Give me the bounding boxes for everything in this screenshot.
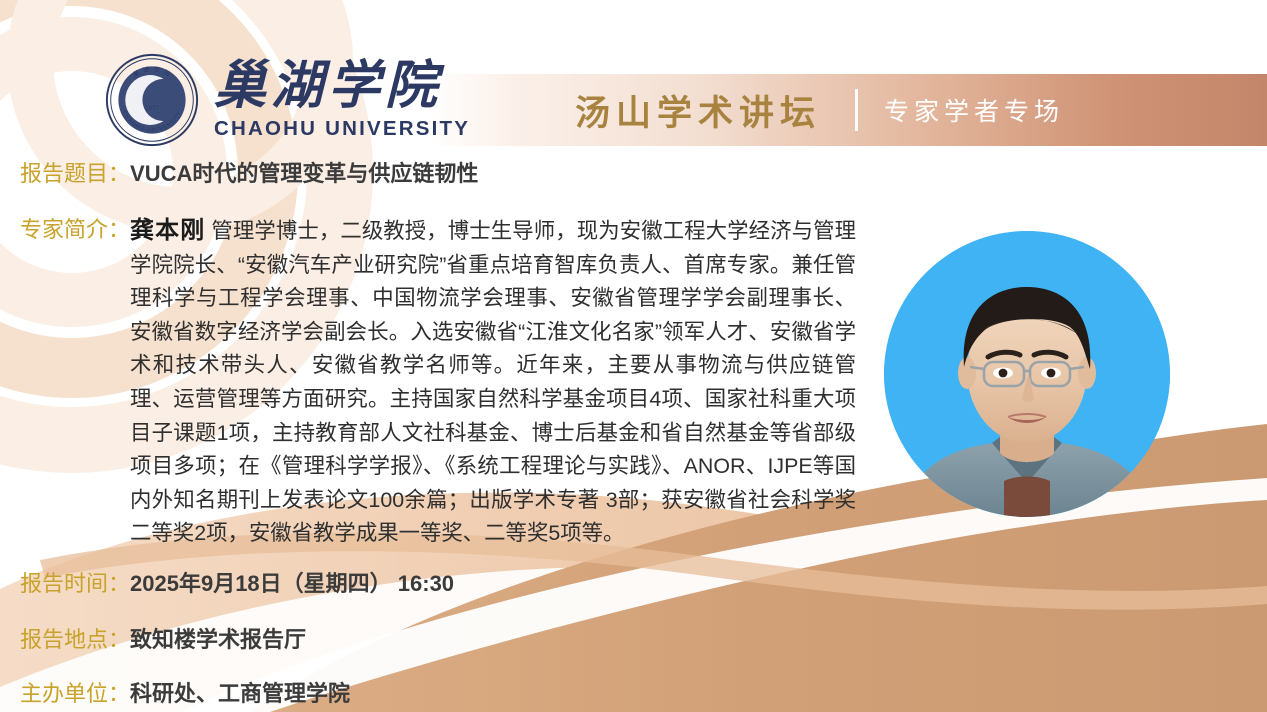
speaker-bio-label: 专家简介： xyxy=(20,214,130,246)
poster-header: 汤山学术讲坛 专家学者专场 1977 巢 湖 学 院 CHAOHU UNIVER… xyxy=(0,0,1267,148)
speaker-bio-row: 专家简介： 龚本刚 管理学博士，二级教授，博士生导师，现为安徽工程大学经济与管理… xyxy=(20,214,890,551)
lecture-place-value: 致知楼学术报告厅 xyxy=(130,624,306,656)
lecture-title-value: VUCA时代的管理变革与供应链韧性 xyxy=(130,158,478,190)
speaker-bio-paragraph: 管理学博士，二级教授，博士生导师，现为安徽工程大学经济与管理学院院长、“安徽汽车… xyxy=(130,219,856,545)
lecture-organizer-row: 主办单位： 科研处、工商管理学院 xyxy=(20,678,350,710)
lecture-place-row: 报告地点： 致知楼学术报告厅 xyxy=(20,624,306,656)
speaker-bio-text: 龚本刚 管理学博士，二级教授，博士生导师，现为安徽工程大学经济与管理学院院长、“… xyxy=(130,214,856,551)
lecture-time-value: 2025年9月18日（星期四） 16:30 xyxy=(130,568,454,600)
chaohu-university-crest-icon: 1977 巢 湖 学 院 CHAOHU UNIVERSITY xyxy=(104,52,200,148)
banner-sub-title: 专家学者专场 xyxy=(884,92,1064,128)
speaker-portrait xyxy=(884,231,1170,517)
lecture-time-label: 报告时间： xyxy=(20,568,130,600)
lecture-title-row: 报告题目： VUCA时代的管理变革与供应链韧性 xyxy=(20,158,478,190)
banner-divider xyxy=(855,89,858,131)
lecture-series-banner: 汤山学术讲坛 专家学者专场 xyxy=(430,74,1267,146)
svg-text:1977: 1977 xyxy=(145,106,158,112)
seminar-poster: 汤山学术讲坛 专家学者专场 1977 巢 湖 学 院 CHAOHU UNIVER… xyxy=(0,0,1267,712)
university-name-en: CHAOHU UNIVERSITY xyxy=(214,117,470,141)
lecture-organizer-label: 主办单位： xyxy=(20,678,130,710)
banner-main-title: 汤山学术讲坛 xyxy=(575,85,821,136)
speaker-name: 龚本刚 xyxy=(130,217,205,244)
university-logo: 1977 巢 湖 学 院 CHAOHU UNIVERSITY 巢湖学院 CHAO… xyxy=(104,52,470,148)
lecture-time-row: 报告时间： 2025年9月18日（星期四） 16:30 xyxy=(20,568,454,600)
speaker-portrait-image xyxy=(884,231,1170,517)
lecture-place-label: 报告地点： xyxy=(20,624,130,656)
lecture-title-label: 报告题目： xyxy=(20,158,130,190)
university-name-cn: 巢湖学院 xyxy=(214,59,470,114)
lecture-organizer-value: 科研处、工商管理学院 xyxy=(130,678,350,710)
university-wordmark: 巢湖学院 CHAOHU UNIVERSITY xyxy=(214,59,470,141)
